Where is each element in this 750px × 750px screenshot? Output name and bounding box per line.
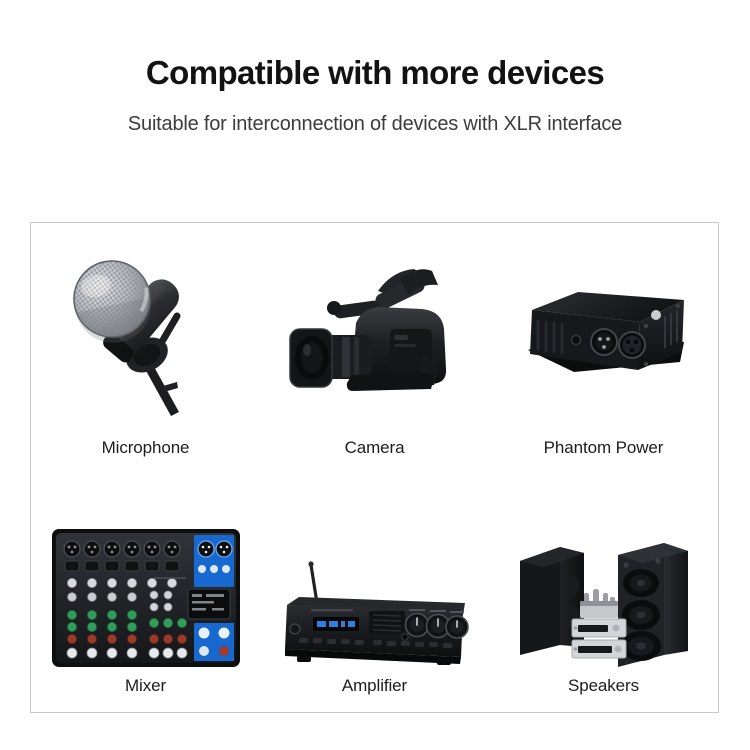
device-label-speakers: Speakers [568, 677, 639, 704]
device-cell-speakers[interactable]: Speakers [489, 468, 718, 713]
mixer-icon [31, 468, 260, 678]
device-cell-mixer[interactable]: Mixer [31, 468, 260, 713]
speakers-icon [489, 468, 718, 678]
device-label-camera: Camera [345, 439, 405, 460]
header: Compatible with more devices Suitable fo… [0, 0, 750, 136]
device-label-mixer: Mixer [125, 677, 166, 704]
device-cell-camera[interactable]: Camera [260, 223, 489, 468]
phantom-power-icon [489, 223, 718, 439]
device-grid: Microphone [31, 223, 718, 712]
device-cell-microphone[interactable]: Microphone [31, 223, 260, 468]
amplifier-icon [260, 468, 489, 678]
camera-icon [260, 223, 489, 439]
device-card: Microphone [30, 222, 719, 713]
device-label-amplifier: Amplifier [342, 677, 407, 704]
device-cell-phantom-power[interactable]: Phantom Power [489, 223, 718, 468]
device-cell-amplifier[interactable]: Amplifier [260, 468, 489, 713]
microphone-icon [31, 223, 260, 439]
page-subtitle: Suitable for interconnection of devices … [0, 113, 750, 136]
device-compatibility-page: Compatible with more devices Suitable fo… [0, 0, 750, 750]
device-label-microphone: Microphone [102, 439, 190, 460]
device-label-phantom-power: Phantom Power [544, 439, 664, 460]
page-title: Compatible with more devices [0, 54, 750, 92]
